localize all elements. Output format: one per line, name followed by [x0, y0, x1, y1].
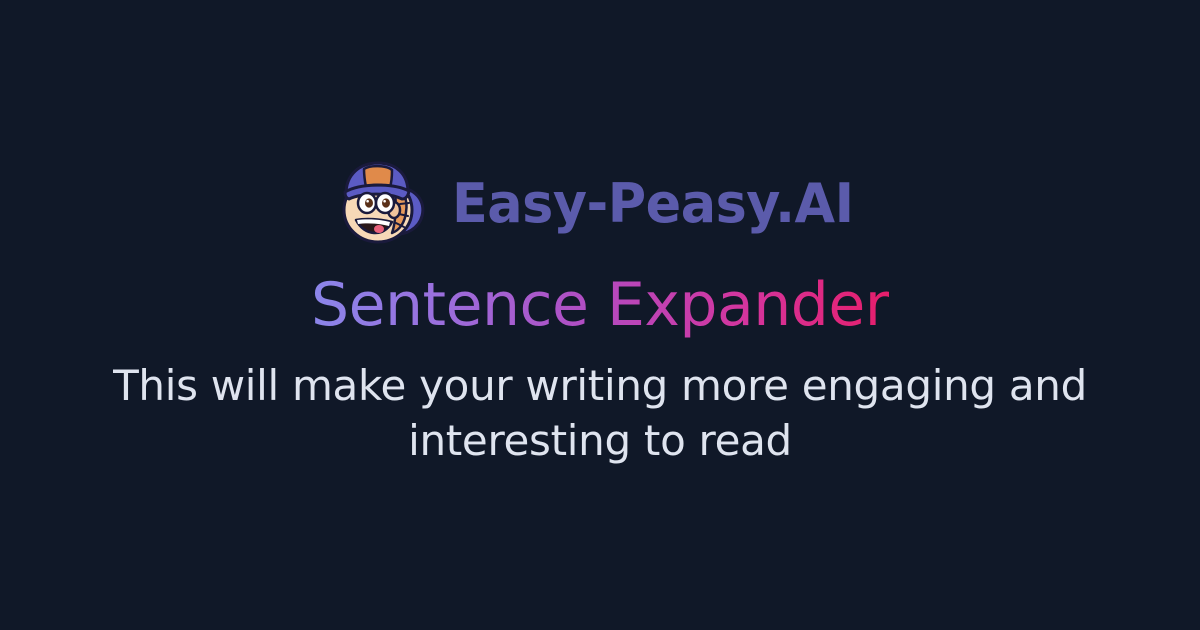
page-subtitle: This will make your writing more engagin… [30, 358, 1170, 469]
brand-wordmark: Easy-Peasy.AI [452, 177, 854, 231]
brand-logo[interactable]: Easy-Peasy.AI [334, 158, 866, 250]
mascot-boy-with-backwards-cap-icon [334, 158, 430, 250]
og-card: Easy-Peasy.AI Sentence Expander This wil… [0, 0, 1200, 630]
page-title: Sentence Expander [311, 272, 889, 338]
